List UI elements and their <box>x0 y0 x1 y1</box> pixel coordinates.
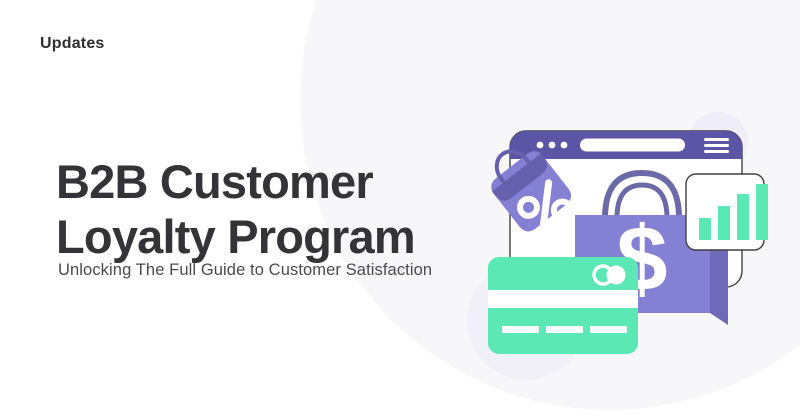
credit-card-dash-3 <box>590 326 627 333</box>
bar-chart-bar-1 <box>699 218 711 240</box>
page-title: B2B Customer Loyalty Program <box>56 155 415 264</box>
browser-dot-2 <box>549 142 556 149</box>
hamburger-icon[interactable] <box>704 138 729 153</box>
credit-card-stripe <box>488 290 638 308</box>
browser-dot-3 <box>561 142 568 149</box>
ecommerce-loyalty-illustration: $ <box>470 110 800 365</box>
bar-chart-bar-3 <box>737 194 749 240</box>
browser-dot-1 <box>537 142 544 149</box>
credit-card <box>488 257 638 354</box>
credit-card-dash-1 <box>502 326 539 333</box>
banner-root: Updates B2B Customer Loyalty Program Unl… <box>0 0 800 419</box>
kicker-label: Updates <box>40 35 105 53</box>
bar-chart-bar-2 <box>718 206 730 240</box>
bar-chart-card <box>686 174 764 250</box>
browser-address-bar[interactable] <box>580 139 685 152</box>
page-subtitle: Unlocking The Full Guide to Customer Sat… <box>58 261 432 280</box>
credit-card-dash-2 <box>546 326 583 333</box>
